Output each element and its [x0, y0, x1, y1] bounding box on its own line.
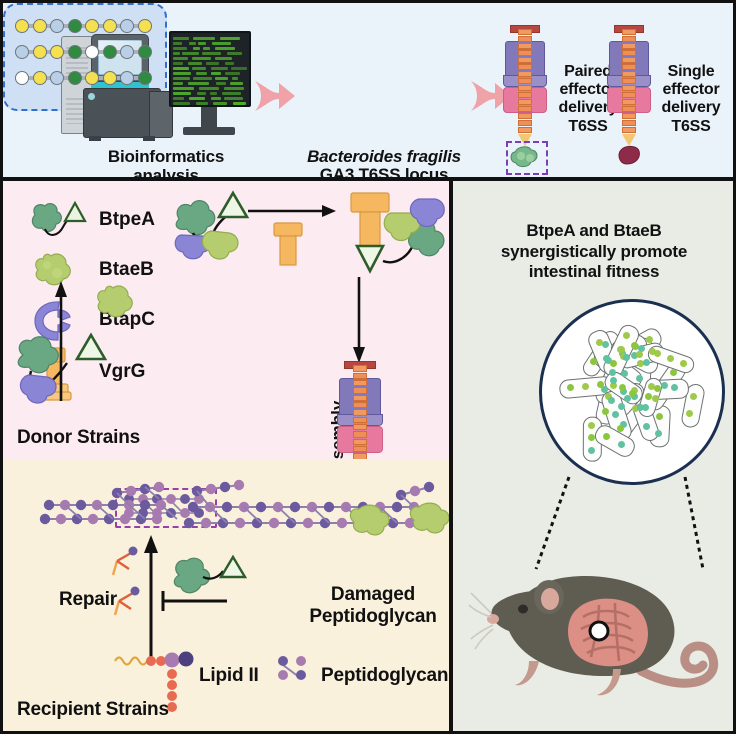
gene-marker	[15, 71, 29, 85]
bacterium-marker-dot	[588, 422, 595, 429]
t6ss-tube-segment	[518, 120, 532, 126]
sequence-read	[215, 77, 228, 80]
sequence-read	[173, 92, 191, 95]
gene-marker	[120, 19, 134, 33]
sequence-read	[202, 52, 221, 55]
sequence-read	[173, 37, 189, 40]
bacterium-marker-dot	[617, 425, 624, 432]
sequence-read	[192, 67, 206, 70]
lipid-ii-label: Lipid II	[199, 665, 259, 687]
gene-row	[15, 71, 151, 85]
damaged-peptidoglycan-icon	[183, 481, 443, 561]
bacterium-marker-dot	[652, 395, 659, 402]
t6ss-tube-segment	[353, 446, 368, 452]
t6ss-tube-segment	[353, 402, 368, 408]
gene-marker	[15, 45, 29, 59]
sequence-read	[173, 82, 183, 85]
sequence-read	[220, 37, 240, 40]
bacterium-marker-dot	[629, 390, 636, 397]
gene-marker	[120, 45, 134, 59]
sequence-read	[173, 52, 180, 55]
t6ss-tube-segment	[622, 50, 636, 56]
sequence-read	[211, 67, 228, 70]
t6ss-tube-segment	[518, 99, 532, 105]
t6ss-tube-segment	[518, 92, 532, 98]
bacterium-marker-dot	[631, 342, 638, 349]
t6ss-tube-segment	[622, 85, 636, 91]
magnified-bacteria-circle-icon	[539, 299, 725, 485]
sequence-read	[211, 97, 221, 100]
gene-marker	[120, 71, 134, 85]
bioinformatics-label: Bioinformatics analysis	[91, 147, 241, 186]
sequence-read	[173, 47, 187, 50]
sequence-read	[233, 102, 246, 105]
single-effector-cargo-icon	[617, 144, 643, 166]
t6ss-tube-segment	[622, 113, 636, 119]
t6ss-tube-segment	[353, 387, 368, 393]
peptidoglycan-label: Peptidoglycan	[321, 665, 448, 687]
t6ss-tube-segment	[353, 380, 368, 386]
sequence-read	[173, 87, 194, 90]
sequence-read	[193, 37, 215, 40]
repair-label: Repair	[59, 589, 117, 611]
bacterium-marker-dot	[582, 383, 589, 390]
sequence-read	[213, 102, 227, 105]
t6ss-tube-segment	[353, 365, 368, 371]
bacterium-marker-dot	[603, 433, 610, 440]
bacterium-marker-dot	[602, 408, 609, 415]
bacterium-marker-dot	[603, 355, 610, 362]
t6ss-tube-segment	[622, 120, 636, 126]
sequence-read	[210, 92, 217, 95]
gene-marker	[103, 45, 117, 59]
legend-label-btaeb: BtaeB	[99, 259, 154, 281]
bacterium-marker-dot	[646, 336, 653, 343]
bacterium-marker-dot	[588, 447, 595, 454]
right-panel-headline: BtpeA and BtaeB synergistically promote …	[467, 221, 721, 283]
gene-marker	[138, 45, 152, 59]
gene-marker	[15, 19, 29, 33]
gene-marker	[33, 45, 47, 59]
t6ss-tube-segment	[622, 127, 636, 133]
gene-marker	[33, 19, 47, 33]
gene-marker	[85, 71, 99, 85]
mouse-with-intestine-icon	[473, 543, 733, 723]
t6ss-tube-segment	[622, 29, 636, 35]
t6ss-tube-segment	[518, 43, 532, 49]
t6ss-tube-segment	[518, 64, 532, 70]
t6ss-tube-segment	[622, 92, 636, 98]
sequence-read	[199, 87, 220, 90]
sequence-read	[216, 82, 226, 85]
btaeb-free-icon	[91, 281, 141, 323]
repaired-peptidoglycan-icon	[39, 485, 189, 555]
t6ss-tube-segment	[622, 64, 636, 70]
sequence-read	[206, 62, 219, 65]
sequence-read	[215, 57, 232, 60]
t6ss-tube-segment	[518, 127, 532, 133]
t6ss-tube-segment	[518, 106, 532, 112]
sequence-read	[225, 62, 234, 65]
damaged-peptidoglycan-svg	[183, 481, 443, 561]
repaired-peptidoglycan-svg	[39, 485, 189, 555]
flow-arrow-1-icon	[253, 77, 297, 115]
gene-row	[15, 19, 151, 33]
gene-marker	[103, 71, 117, 85]
sequence-read	[173, 67, 189, 70]
damaged-peptidoglycan-label: Damaged Peptidoglycan	[303, 584, 443, 627]
bacterium-marker-dot	[667, 355, 674, 362]
sequence-read	[182, 52, 199, 55]
t6ss-tube-segment	[622, 99, 636, 105]
sequence-read	[224, 87, 244, 90]
gene-marker	[103, 19, 117, 33]
sequence-read	[212, 42, 231, 45]
sequence-read	[225, 72, 241, 75]
bacterium-marker-dot	[661, 382, 668, 389]
t6ss-tube-segment	[353, 395, 368, 401]
sequence-read	[189, 42, 196, 45]
bacterium-marker-dot	[623, 354, 630, 361]
bacterium-marker-dot	[690, 393, 697, 400]
t6ss-tube-segment	[622, 106, 636, 112]
t6ss-tube-segment	[518, 50, 532, 56]
sequence-read	[222, 92, 241, 95]
gene-marker	[138, 19, 152, 33]
sequence-read	[192, 57, 211, 60]
t6ss-tube-segment	[353, 409, 368, 415]
bacterium-marker-dot	[618, 403, 625, 410]
gene-marker	[50, 71, 64, 85]
bacterium-marker-dot	[618, 441, 625, 448]
vgrg-monomer-icon	[268, 221, 308, 267]
donor-complex-bottom-icon	[11, 333, 131, 411]
sequence-read	[188, 82, 208, 85]
bacterium-marker-dot	[567, 384, 574, 391]
gene-marker	[50, 19, 64, 33]
t6ss-tube-segment	[518, 36, 532, 42]
bacterium-marker-dot	[670, 369, 677, 376]
sequence-read	[173, 77, 190, 80]
t6ss-tube-segment	[622, 36, 636, 42]
t6ss-tube-segment	[518, 57, 532, 63]
sequence-read	[198, 42, 205, 45]
bacterium-marker-dot	[680, 360, 687, 367]
sequence-read	[173, 62, 183, 65]
t6ss-tube-segment	[622, 71, 636, 77]
assembly-arrow-icon	[351, 277, 367, 363]
donor-complex-top-icon	[171, 189, 281, 267]
bacterium-marker-dot	[671, 384, 678, 391]
bacterium-marker-dot	[596, 339, 603, 346]
sequence-read	[224, 97, 243, 100]
gene-marker	[68, 19, 82, 33]
sequence-read	[173, 57, 188, 60]
donor-strains-panel: BtpeA BtaeB BtapC	[3, 181, 449, 459]
bacterium-marker-dot	[636, 351, 643, 358]
legend-label-btpea: BtpeA	[99, 209, 155, 231]
gene-marker	[85, 45, 99, 59]
donor-strains-title: Donor Strains	[17, 427, 140, 449]
sequence-read	[227, 52, 242, 55]
bacterium-marker-dot	[610, 377, 617, 384]
sequence-read	[230, 82, 242, 85]
paired-effector-highlight-box	[506, 141, 548, 175]
t6ss-tube-segment	[518, 85, 532, 91]
t6ss-tube-segment	[518, 113, 532, 119]
sequence-read	[188, 62, 202, 65]
sequence-read	[196, 102, 208, 105]
top-panel: Bioinformatics analysis Bacteroides frag…	[3, 3, 733, 181]
t6ss-tube-segment	[353, 439, 368, 445]
sequence-read	[203, 47, 209, 50]
bacterium-marker-dot	[619, 384, 626, 391]
gene-row	[15, 45, 151, 59]
sequence-read	[193, 47, 200, 50]
single-effector-label: Single effector delivery T6SS	[649, 63, 733, 136]
gene-marker	[68, 71, 82, 85]
gene-marker	[138, 71, 152, 85]
gene-marker	[85, 19, 99, 33]
gene-marker	[68, 45, 82, 59]
graphical-abstract-figure: Bioinformatics analysis Bacteroides frag…	[0, 0, 736, 734]
recipient-strains-panel: Repair Damaged Peptidoglycan Lipid II P	[3, 459, 449, 731]
bacterium-marker-dot	[655, 430, 662, 437]
t6ss-tube-segment	[518, 78, 532, 84]
sequence-read	[193, 77, 212, 80]
reaction-arrow-right-icon	[248, 203, 336, 219]
sequence-read	[173, 97, 184, 100]
sequence-read	[232, 77, 238, 80]
species-label: Bacteroides fragilis	[299, 147, 469, 166]
t6ss-tube-segment	[353, 431, 368, 437]
t6ss-tube-segment	[622, 43, 636, 49]
btaeb-damage-blob	[410, 503, 449, 533]
btpea-effector-icon	[169, 555, 249, 607]
sequence-read	[189, 97, 205, 100]
t6ss-tube-segment	[518, 71, 532, 77]
recipient-strains-title: Recipient Strains	[17, 699, 169, 721]
gene-marker	[50, 45, 64, 59]
t6ss-tube-segment	[518, 29, 532, 35]
t6ss-tube-segment	[353, 417, 368, 423]
paired-effector-t6ss-icon	[497, 25, 553, 175]
vgrg-effector-assembly-icon	[335, 191, 447, 277]
sequence-read	[197, 92, 206, 95]
peptidoglycan-legend-icon	[275, 655, 315, 687]
sequence-read	[231, 67, 247, 70]
t6ss-tube-segment	[622, 57, 636, 63]
t6ss-tube-segment	[353, 424, 368, 430]
sequence-read	[196, 72, 208, 75]
sequence-read	[173, 102, 190, 105]
sequence-read	[173, 72, 191, 75]
sequence-read	[173, 42, 182, 45]
gene-marker	[33, 71, 47, 85]
sequence-read	[215, 47, 235, 50]
t6ss-tube-segment	[622, 78, 636, 84]
t6ss-tube-segment	[353, 373, 368, 379]
sequence-read	[211, 72, 222, 75]
bacterium-marker-dot	[636, 375, 643, 382]
